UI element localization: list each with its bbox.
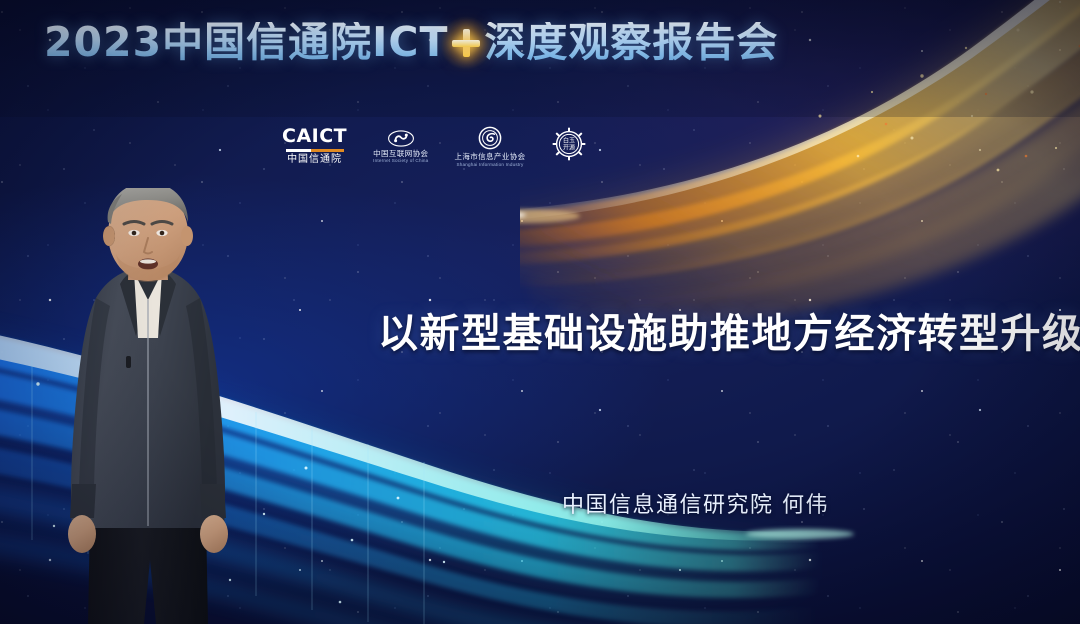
webinar-slide-stage: 2023中国信通院ICT深度观察报告会 CAICT 中国信通院 中国互联网协会 … [0,0,1080,624]
vignette-overlay [0,0,1080,624]
